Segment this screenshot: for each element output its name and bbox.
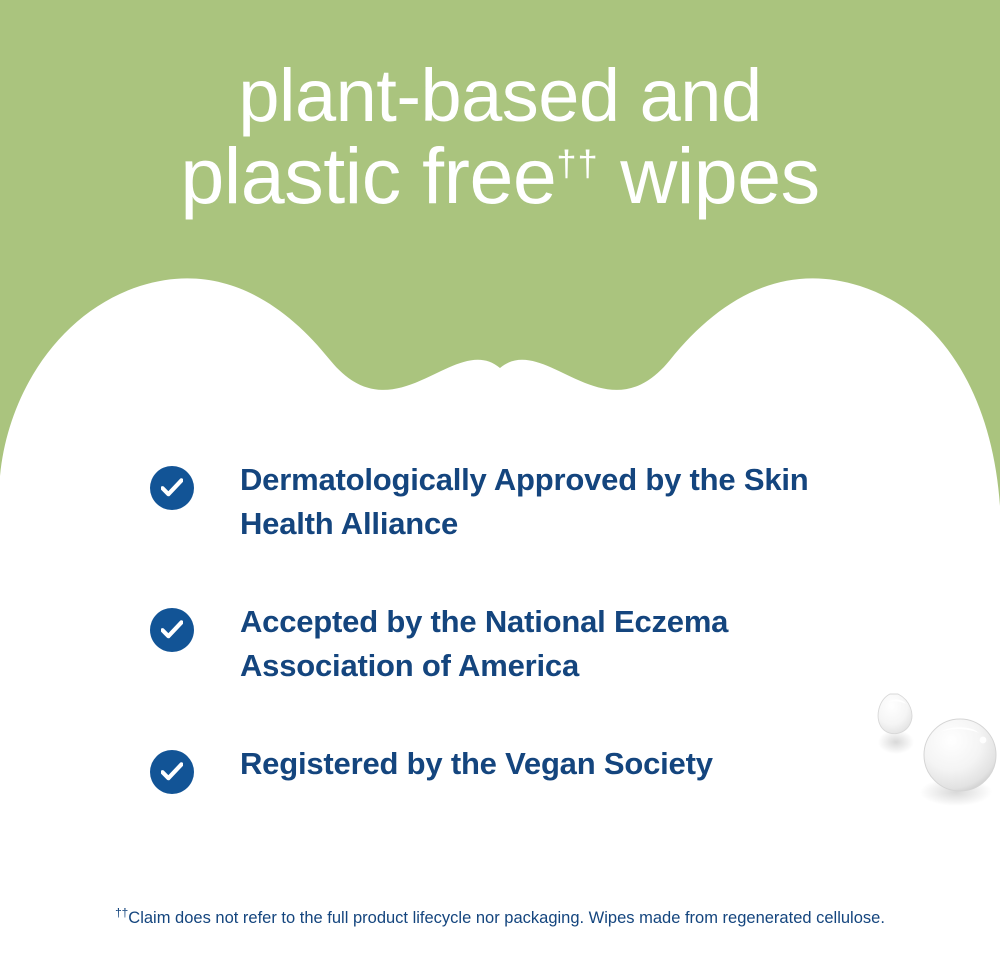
- headline-line-2-text: plastic free: [180, 131, 556, 220]
- claim-text: Dermatologically Approved by the Skin He…: [240, 458, 900, 546]
- headline-line-2-tail: wipes: [599, 131, 820, 220]
- headline: plant-based and plastic free†† wipes: [0, 56, 1000, 216]
- check-circle-icon: [150, 750, 194, 794]
- claim-item: Accepted by the National Eczema Associat…: [150, 600, 910, 688]
- claims-list: Dermatologically Approved by the Skin He…: [150, 458, 910, 794]
- footnote: ††Claim does not refer to the full produ…: [80, 906, 920, 931]
- double-dagger-superscript: ††: [556, 143, 598, 184]
- claim-text: Registered by the Vegan Society: [240, 742, 713, 786]
- water-droplet-large-spark: [980, 737, 987, 744]
- marketing-graphic: plant-based and plastic free†† wipes Der…: [0, 0, 1000, 959]
- water-droplet-large: [924, 719, 996, 791]
- footnote-marker: ††: [115, 906, 128, 920]
- claim-item: Dermatologically Approved by the Skin He…: [150, 458, 910, 546]
- claim-text: Accepted by the National Eczema Associat…: [240, 600, 900, 688]
- water-droplets-decoration: [860, 680, 1000, 810]
- claim-item: Registered by the Vegan Society: [150, 742, 910, 794]
- headline-line-2: plastic free†† wipes: [0, 136, 1000, 216]
- footnote-text: Claim does not refer to the full product…: [128, 909, 885, 927]
- headline-line-1: plant-based and: [238, 54, 761, 137]
- check-circle-icon: [150, 608, 194, 652]
- check-circle-icon: [150, 466, 194, 510]
